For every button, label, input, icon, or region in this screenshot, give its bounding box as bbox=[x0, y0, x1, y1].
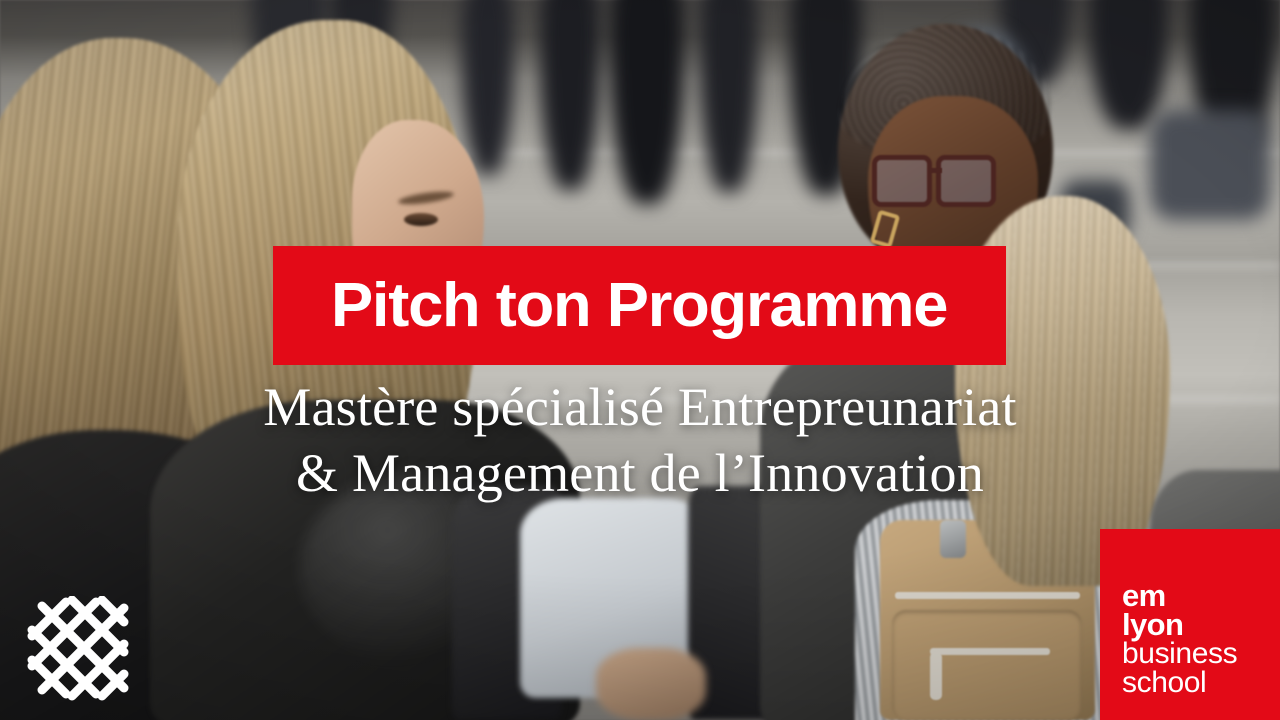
logo-line-business: business bbox=[1122, 639, 1237, 668]
backpack-zipper-top bbox=[895, 592, 1080, 599]
logo-line-em: em bbox=[1122, 581, 1237, 610]
subtitle: Mastère spécialisé Entrepreunariat & Man… bbox=[0, 374, 1280, 506]
emlyon-logo-text: em lyon business school bbox=[1122, 581, 1237, 697]
seated-person-hands bbox=[596, 648, 706, 720]
page-title: Pitch ton Programme bbox=[331, 275, 947, 337]
person-3-glasses-left-lens bbox=[872, 155, 932, 207]
backpack-front-pocket bbox=[892, 610, 1082, 720]
title-banner: Pitch ton Programme bbox=[273, 246, 1006, 365]
person-3-glasses-right-lens bbox=[936, 155, 996, 207]
person-2-eye bbox=[404, 213, 438, 226]
backpack-zipper-pull bbox=[930, 652, 942, 700]
lattice-crosshatch-icon bbox=[26, 596, 130, 702]
logo-line-school: school bbox=[1122, 668, 1237, 697]
person-3-glasses-bridge bbox=[930, 168, 942, 173]
emlyon-logo: em lyon business school bbox=[1100, 529, 1280, 720]
backpack-buckle bbox=[940, 520, 966, 558]
logo-line-lyon: lyon bbox=[1122, 610, 1237, 639]
thumbnail-canvas: Pitch ton Programme Mastère spécialisé E… bbox=[0, 0, 1280, 720]
backpack-zipper-front bbox=[930, 648, 1050, 655]
background-bag bbox=[1150, 110, 1270, 220]
